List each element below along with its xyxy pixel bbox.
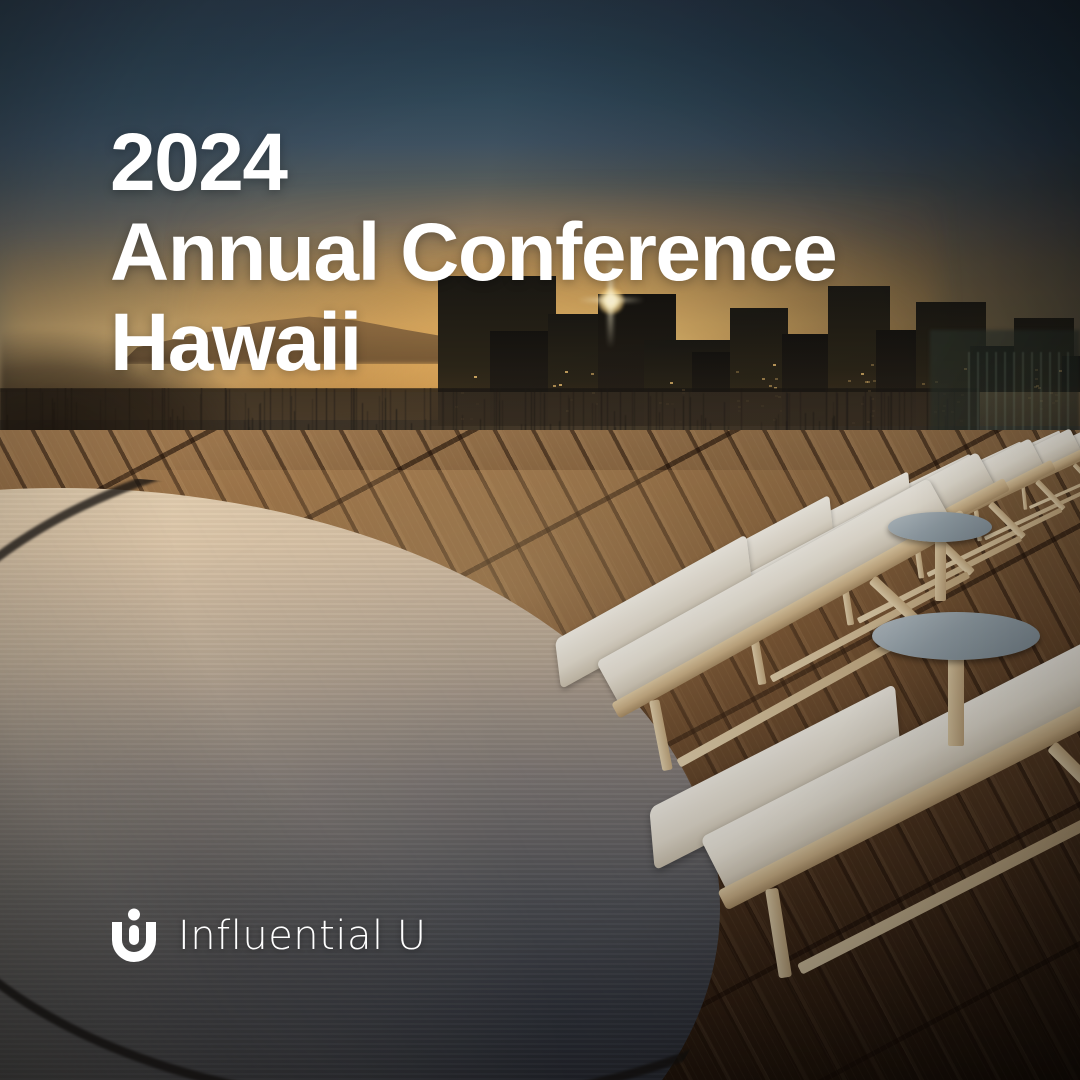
brand-name: Influential U bbox=[178, 913, 427, 959]
brand-lockup: Influential U bbox=[106, 908, 427, 964]
headline-line-location: Hawaii bbox=[110, 298, 1010, 388]
influential-u-logo-icon bbox=[106, 908, 162, 964]
conference-poster: 2024 Annual Conference Hawaii Influentia… bbox=[0, 0, 1080, 1080]
headline-line-title: Annual Conference bbox=[110, 208, 1010, 298]
headline-line-year: 2024 bbox=[110, 118, 1010, 208]
headline: 2024 Annual Conference Hawaii bbox=[110, 118, 1010, 388]
